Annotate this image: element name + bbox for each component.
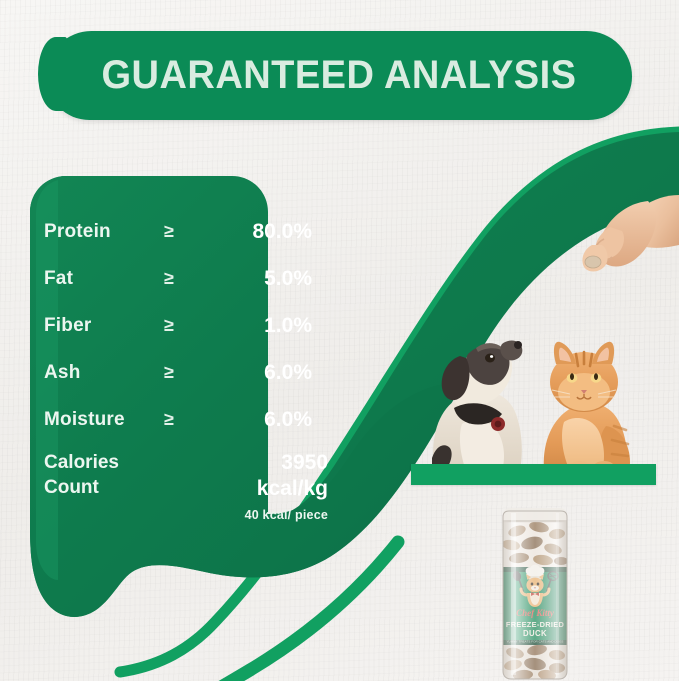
shelf-bar [411, 464, 656, 485]
nutrient-value: 6.0% [212, 408, 334, 432]
nutrient-operator: ≥ [164, 362, 212, 383]
nutrient-value: 6.0% [212, 361, 334, 385]
calories-label: Calories Count [44, 450, 174, 500]
nutrient-label: Fiber [44, 315, 164, 337]
dog-collar-tag-inner [495, 421, 502, 428]
nutrient-value: 80.0% [212, 220, 334, 244]
cat-figure [544, 342, 630, 471]
calories-value: 3950 kcal/kg [245, 450, 328, 502]
nutrient-label: Ash [44, 362, 164, 384]
table-row: Protein ≥ 80.0% [44, 208, 334, 255]
calories-values: 3950 kcal/kg 40 kcal/ piece [245, 450, 334, 522]
nutrient-operator: ≥ [164, 221, 212, 242]
dog-figure [432, 341, 522, 471]
page-title: GUARANTEED ANALYSIS [61, 31, 618, 120]
nutrient-label: Fat [44, 268, 164, 290]
nutrition-table: Protein ≥ 80.0% Fat ≥ 5.0% Fiber ≥ 1.0% … [44, 208, 334, 443]
table-row: Moisture ≥ 6.0% [44, 396, 334, 443]
table-row: Fiber ≥ 1.0% [44, 302, 334, 349]
dog-eye-glint [490, 355, 493, 358]
nutrient-value: 5.0% [212, 267, 334, 291]
cat-pupil-right [594, 373, 598, 380]
nutrient-label: Protein [44, 221, 164, 243]
nutrient-operator: ≥ [164, 268, 212, 289]
calories-per-piece-note: 40 kcal/ piece [245, 508, 328, 522]
guaranteed-analysis-banner: GUARANTEED ANALYSIS [46, 31, 632, 120]
dog-eye [485, 354, 495, 363]
nutrient-label: Moisture [44, 409, 164, 431]
table-row: Fat ≥ 5.0% [44, 255, 334, 302]
nutrient-operator: ≥ [164, 315, 212, 336]
hand-holding-treat-image [566, 183, 679, 288]
nutrient-operator: ≥ [164, 409, 212, 430]
cat-pupil-left [570, 373, 574, 380]
dog-nose [514, 341, 522, 349]
table-row: Ash ≥ 6.0% [44, 349, 334, 396]
infographic-stage: GUARANTEED ANALYSIS Protein ≥ 80.0% Fat … [0, 0, 679, 681]
nutrient-value: 1.0% [212, 314, 334, 338]
jar-highlight-right [556, 513, 559, 675]
pets-image [404, 296, 679, 471]
calories-section: Calories Count 3950 kcal/kg 40 kcal/ pie… [44, 450, 334, 522]
jar-highlight-left [511, 513, 516, 675]
product-jar: Chef Kitty FREEZE-DRIED DUCK YUMMY TREAT… [487, 503, 583, 681]
